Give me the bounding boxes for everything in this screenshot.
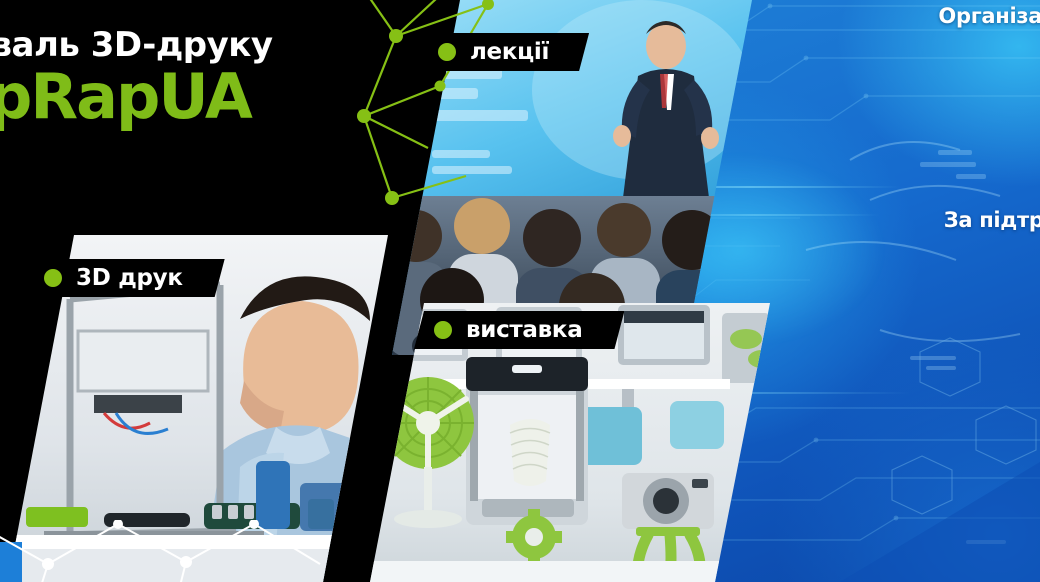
white-network-graphic-icon: [0, 520, 370, 582]
section-label-text: лекції: [470, 39, 549, 65]
support-heading: За підтри: [944, 208, 1040, 232]
sponsor-column: Організат За підтри: [850, 0, 1040, 582]
bullet-dot-icon: [44, 269, 62, 287]
section-label-text: виставка: [466, 317, 582, 343]
bullet-dot-icon: [438, 43, 456, 61]
bullet-dot-icon: [434, 321, 452, 339]
organizers-heading: Організат: [938, 4, 1040, 28]
poster-canvas: тиваль 3D-друку epRapUA лекції 3D друк в…: [0, 0, 1040, 582]
headline-subtitle: тиваль 3D-друку: [0, 28, 368, 62]
headline-title: epRapUA: [0, 66, 368, 128]
section-label-expo: виставка: [414, 311, 624, 349]
section-label-3d-print: 3D друк: [24, 259, 225, 297]
section-label-text: 3D друк: [76, 265, 183, 291]
poster-headline: тиваль 3D-друку epRapUA: [0, 28, 368, 128]
section-label-lectures: лекції: [418, 33, 589, 71]
3d-printer-unit: [466, 357, 588, 525]
